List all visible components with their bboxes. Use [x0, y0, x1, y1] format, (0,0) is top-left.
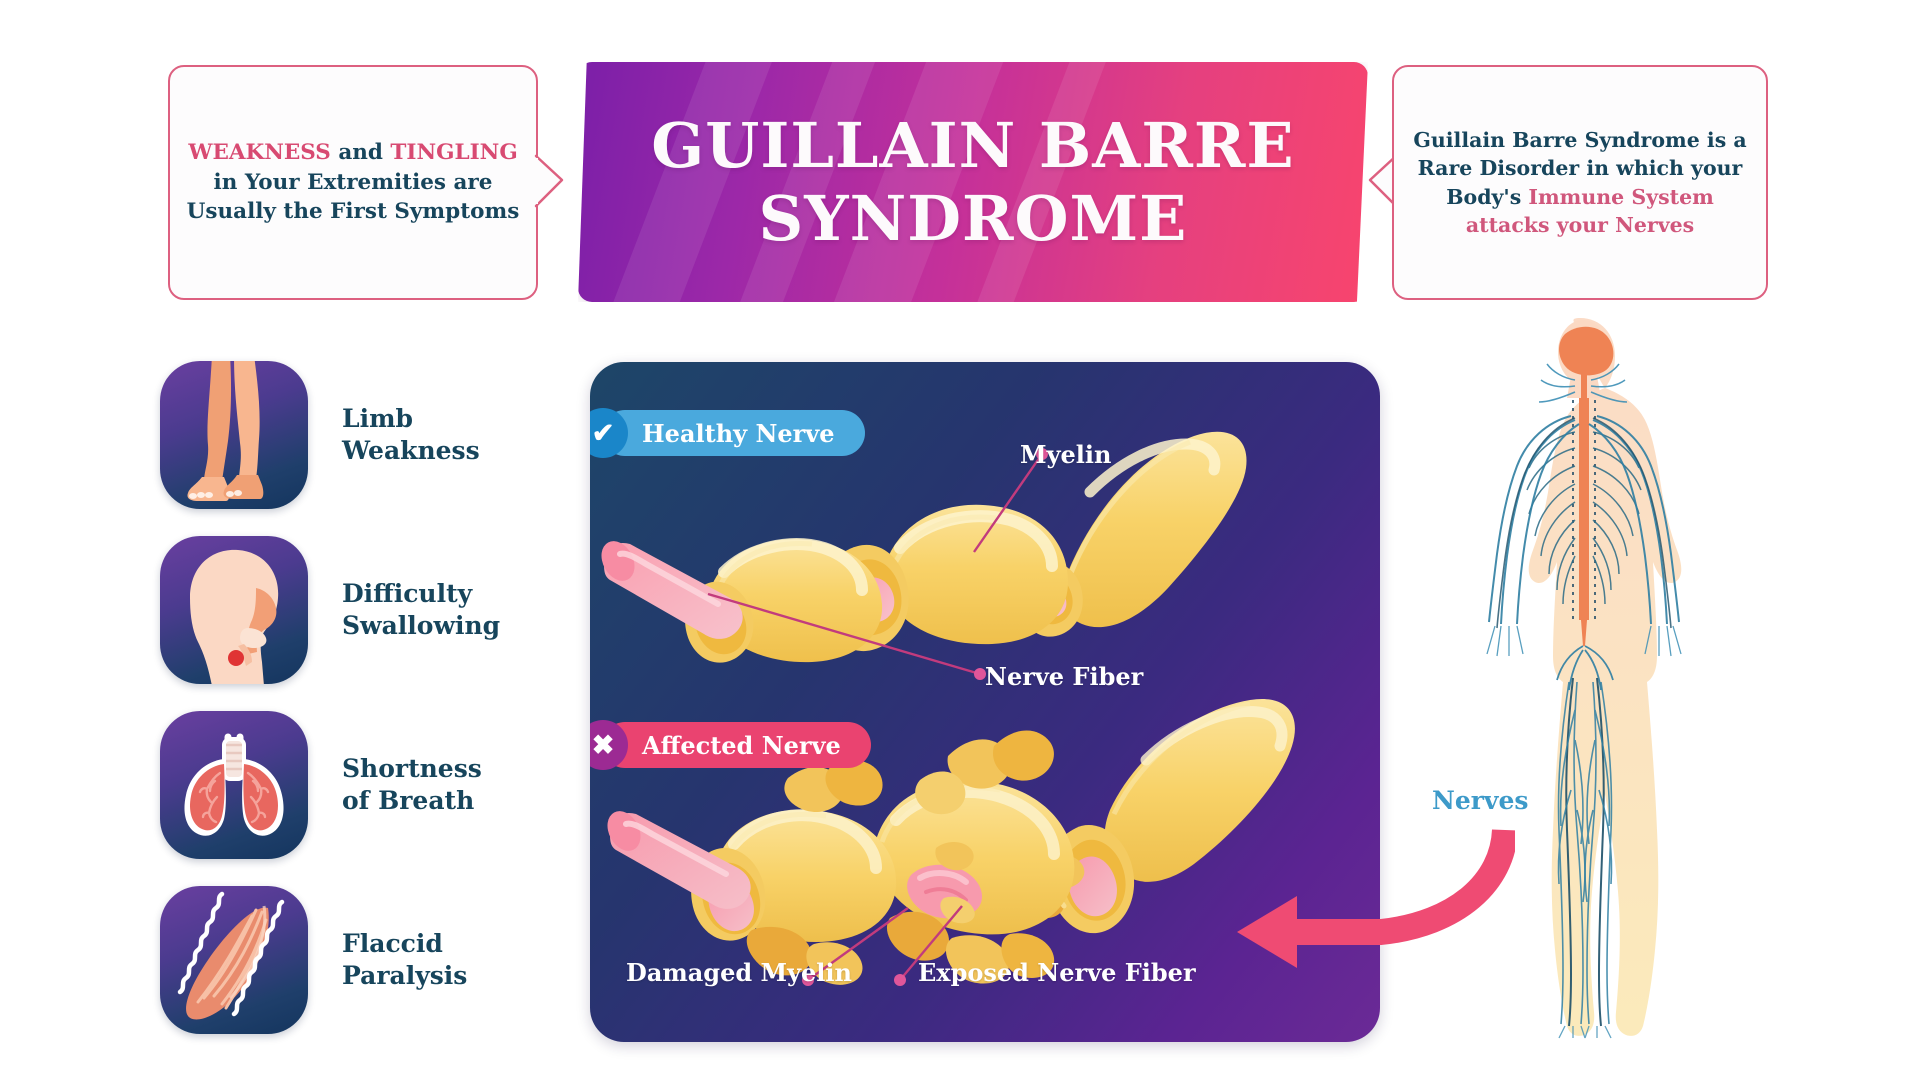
- label-nerve-fiber: Nerve Fiber: [985, 662, 1143, 691]
- symptom-list: Limb Weakness Difficulty Sw: [160, 365, 560, 1065]
- weakness-callout-body: in Your Extremities are Usually the Firs…: [187, 170, 520, 225]
- symptom-label-flaccid-paralysis: Flaccid Paralysis: [342, 928, 467, 992]
- legs-icon: [160, 361, 308, 509]
- symptom-label-difficulty-swallowing: Difficulty Swallowing: [342, 578, 500, 642]
- definition-callout-text: Guillain Barre Syndrome is a Rare Disord…: [1394, 126, 1766, 239]
- head-throat-icon: [160, 536, 308, 684]
- label-damaged-myelin: Damaged Myelin: [626, 958, 852, 987]
- symptom-item-limb-weakness[interactable]: Limb Weakness: [160, 365, 560, 505]
- lungs-icon: [160, 711, 308, 859]
- title-line-1: GUILLAIN BARRE: [651, 109, 1294, 182]
- symptom-label-line1: Flaccid: [342, 928, 467, 960]
- nerve-arrow: [1185, 820, 1515, 980]
- and-connector: and: [331, 140, 391, 165]
- tingling-highlight: TINGLING: [390, 140, 517, 165]
- definition-callout: Guillain Barre Syndrome is a Rare Disord…: [1392, 65, 1768, 300]
- symptom-label-line2: Weakness: [342, 435, 480, 467]
- symptom-item-flaccid-paralysis[interactable]: Flaccid Paralysis: [160, 890, 560, 1030]
- page-title: GUILLAIN BARRE SYNDROME: [625, 109, 1320, 255]
- symptom-label-line2: Swallowing: [342, 610, 500, 642]
- symptom-label-limb-weakness: Limb Weakness: [342, 403, 480, 467]
- symptom-label-line1: Difficulty: [342, 578, 500, 610]
- title-banner: GUILLAIN BARRE SYNDROME: [578, 62, 1368, 302]
- title-line-2: SYNDROME: [651, 182, 1294, 255]
- symptom-label-line2: of Breath: [342, 785, 482, 817]
- nerves-label: Nerves: [1432, 786, 1528, 815]
- label-myelin: Myelin: [1020, 440, 1111, 469]
- symptom-label-line1: Shortness: [342, 753, 482, 785]
- symptom-item-difficulty-swallowing[interactable]: Difficulty Swallowing: [160, 540, 560, 680]
- healthy-nerve-badge-label: Healthy Nerve: [602, 410, 865, 456]
- affected-nerve-badge-label: Affected Nerve: [602, 722, 871, 768]
- left-callout-tail: [536, 154, 566, 210]
- symptom-label-line1: Limb: [342, 403, 480, 435]
- symptom-label-shortness-of-breath: Shortness of Breath: [342, 753, 482, 817]
- healthy-nerve-badge[interactable]: ✔ Healthy Nerve: [590, 410, 865, 456]
- weakness-highlight: WEAKNESS: [188, 140, 331, 165]
- infographic-canvas: WEAKNESS and TINGLING in Your Extremitie…: [0, 0, 1920, 1080]
- label-exposed-nerve-fiber: Exposed Nerve Fiber: [918, 958, 1196, 987]
- weakness-tingling-callout: WEAKNESS and TINGLING in Your Extremitie…: [168, 65, 538, 300]
- weakness-tingling-callout-text: WEAKNESS and TINGLING in Your Extremitie…: [170, 138, 536, 227]
- muscle-icon: [160, 886, 308, 1034]
- symptom-label-line2: Paralysis: [342, 960, 467, 992]
- affected-nerve-badge[interactable]: ✖ Affected Nerve: [590, 722, 871, 768]
- symptom-item-shortness-of-breath[interactable]: Shortness of Breath: [160, 715, 560, 855]
